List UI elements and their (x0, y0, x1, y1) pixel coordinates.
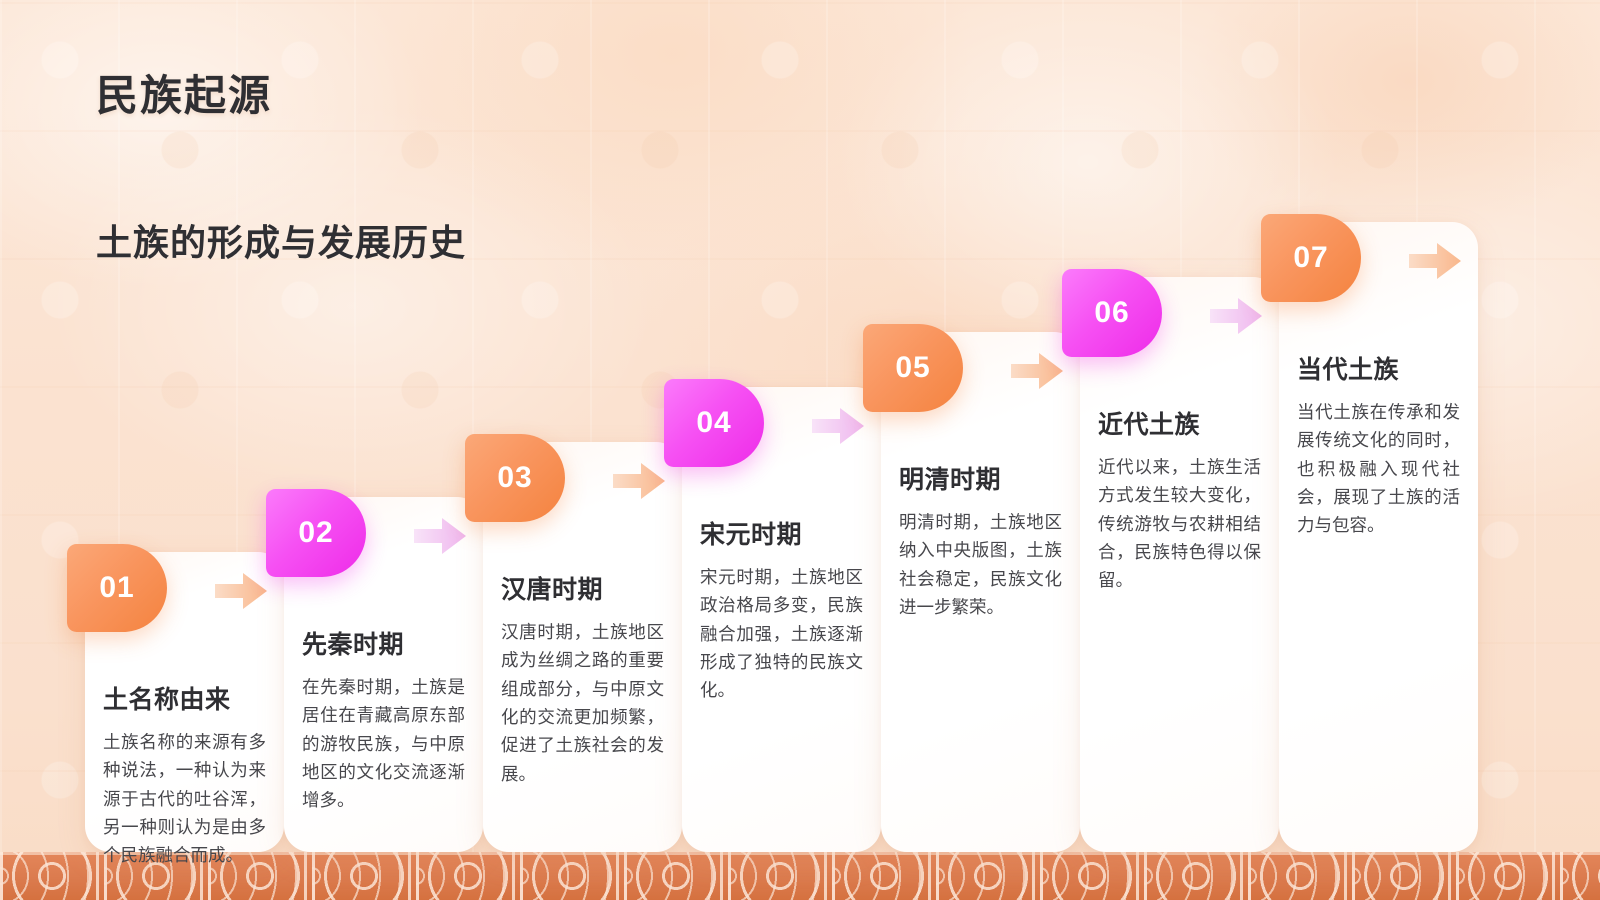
step-arrow-glyph (412, 514, 468, 558)
timeline-staircase: 01土名称由来土族名称的来源有多种说法，一种认为来源于古代的吐谷浑，另一种则认为… (0, 0, 1600, 900)
step-arrow-glyph (810, 404, 866, 448)
next-step-arrow-icon (1009, 349, 1065, 398)
step-title: 当代土族 (1297, 350, 1399, 386)
step-title: 宋元时期 (700, 515, 802, 551)
step-number-badge[interactable]: 05 (863, 324, 963, 412)
step-arrow-glyph (1009, 349, 1065, 393)
step-description: 当代土族在传承和发展传统文化的同时，也积极融入现代社会，展现了土族的活力与包容。 (1297, 398, 1460, 540)
step-arrow-glyph (1407, 239, 1463, 283)
step-number-badge[interactable]: 04 (664, 379, 764, 467)
next-step-arrow-icon (810, 404, 866, 453)
step-number-badge[interactable]: 01 (67, 544, 167, 632)
next-step-arrow-icon (1208, 294, 1264, 343)
step-arrow-glyph (213, 569, 269, 613)
step-number-label: 01 (99, 571, 134, 605)
timeline-step-01[interactable]: 01土名称由来土族名称的来源有多种说法，一种认为来源于古代的吐谷浑，另一种则认为… (85, 552, 284, 852)
step-title: 汉唐时期 (501, 570, 603, 606)
step-number-badge[interactable]: 07 (1261, 214, 1361, 302)
step-number-label: 04 (696, 406, 731, 440)
step-description: 土族名称的来源有多种说法，一种认为来源于古代的吐谷浑，另一种则认为是由多个民族融… (103, 728, 266, 870)
next-step-arrow-icon (611, 459, 667, 508)
step-title: 明清时期 (899, 460, 1001, 496)
step-title: 先秦时期 (302, 625, 404, 661)
timeline-step-06[interactable]: 06近代土族近代以来，土族生活方式发生较大变化，传统游牧与农耕相结合，民族特色得… (1080, 277, 1279, 852)
timeline-step-04[interactable]: 04宋元时期宋元时期，土族地区政治格局多变，民族融合加强，土族逐渐形成了独特的民… (682, 387, 881, 852)
step-arrow-glyph (1208, 294, 1264, 338)
next-step-arrow-icon (1407, 239, 1463, 288)
step-description: 汉唐时期，土族地区成为丝绸之路的重要组成部分，与中原文化的交流更加频繁，促进了土… (501, 618, 664, 788)
step-description: 宋元时期，土族地区政治格局多变，民族融合加强，土族逐渐形成了独特的民族文化。 (700, 563, 863, 705)
timeline-step-02[interactable]: 02先秦时期在先秦时期，土族是居住在青藏高原东部的游牧民族，与中原地区的文化交流… (284, 497, 483, 852)
step-number-label: 03 (497, 461, 532, 495)
timeline-step-05[interactable]: 05明清时期明清时期，土族地区纳入中央版图，土族社会稳定，民族文化进一步繁荣。 (881, 332, 1080, 852)
step-number-label: 07 (1293, 241, 1328, 275)
step-title: 土名称由来 (103, 680, 231, 716)
step-number-badge[interactable]: 03 (465, 434, 565, 522)
timeline-step-03[interactable]: 03汉唐时期汉唐时期，土族地区成为丝绸之路的重要组成部分，与中原文化的交流更加频… (483, 442, 682, 852)
step-description: 在先秦时期，土族是居住在青藏高原东部的游牧民族，与中原地区的文化交流逐渐增多。 (302, 673, 465, 815)
step-number-label: 02 (298, 516, 333, 550)
step-number-label: 06 (1094, 296, 1129, 330)
step-title: 近代土族 (1098, 405, 1200, 441)
step-description: 明清时期，土族地区纳入中央版图，土族社会稳定，民族文化进一步繁荣。 (899, 508, 1062, 621)
step-number-label: 05 (895, 351, 930, 385)
timeline-step-07[interactable]: 07当代土族当代土族在传承和发展传统文化的同时，也积极融入现代社会，展现了土族的… (1279, 222, 1478, 852)
next-step-arrow-icon (213, 569, 269, 618)
step-arrow-glyph (611, 459, 667, 503)
step-description: 近代以来，土族生活方式发生较大变化，传统游牧与农耕相结合，民族特色得以保留。 (1098, 453, 1261, 595)
next-step-arrow-icon (412, 514, 468, 563)
step-number-badge[interactable]: 02 (266, 489, 366, 577)
step-number-badge[interactable]: 06 (1062, 269, 1162, 357)
